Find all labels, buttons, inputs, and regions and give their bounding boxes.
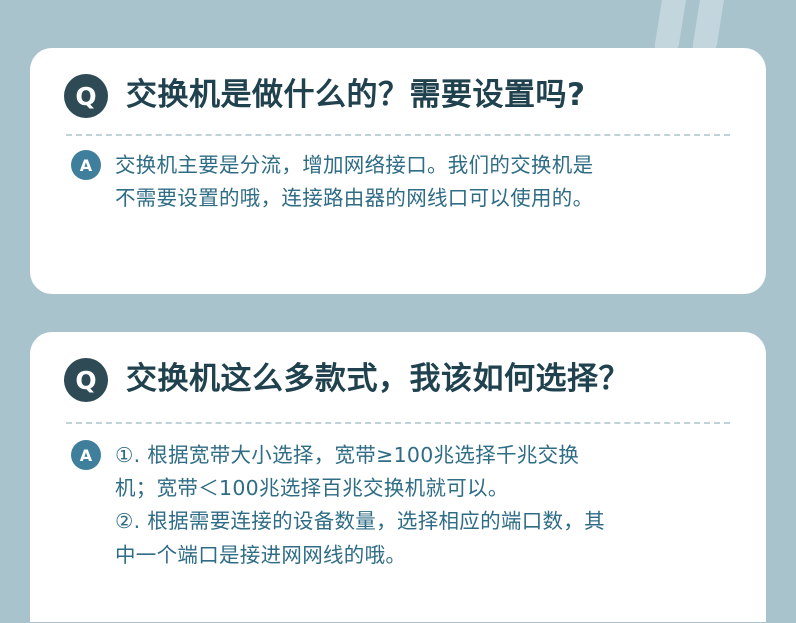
question-row-2: Q 交换机这么多款式，我该如何选择？ [64, 358, 732, 402]
question-row-1: Q 交换机是做什么的？需要设置吗? [64, 74, 732, 118]
answer-line: 中一个端口是接进网网线的哦。 [115, 539, 605, 572]
question-badge-1: Q [64, 74, 108, 118]
answer-line: 不需要设置的哦，连接路由器的网线口可以使用的。 [115, 182, 593, 215]
divider-1 [66, 134, 730, 136]
answer-line: 交换机主要是分流，增加网络接口。我们的交换机是 [115, 149, 593, 182]
answer-text-2: ①. 根据宽带大小选择，宽带≥100兆选择千兆交换 机；宽带＜100兆选择百兆交… [115, 439, 605, 572]
answer-line: 机；宽带＜100兆选择百兆交换机就可以。 [115, 472, 605, 505]
answer-badge-1: A [71, 150, 101, 180]
faq-card-2: Q 交换机这么多款式，我该如何选择？ A ①. 根据宽带大小选择，宽带≥100兆… [30, 332, 766, 622]
answer-line: ①. 根据宽带大小选择，宽带≥100兆选择千兆交换 [115, 439, 605, 472]
answer-row-2: A ①. 根据宽带大小选择，宽带≥100兆选择千兆交换 机；宽带＜100兆选择百… [64, 440, 732, 572]
question-text-1: 交换机是做什么的？需要设置吗? [126, 77, 585, 114]
question-text-2: 交换机这么多款式，我该如何选择？ [126, 361, 630, 398]
answer-text-1: 交换机主要是分流，增加网络接口。我们的交换机是 不需要设置的哦，连接路由器的网线… [115, 149, 593, 215]
faq-page: Q 交换机是做什么的？需要设置吗? A 交换机主要是分流，增加网络接口。我们的交… [0, 0, 796, 623]
divider-2 [66, 422, 730, 424]
answer-row-1: A 交换机主要是分流，增加网络接口。我们的交换机是 不需要设置的哦，连接路由器的… [64, 150, 732, 215]
answer-badge-2: A [71, 440, 101, 470]
faq-card-1: Q 交换机是做什么的？需要设置吗? A 交换机主要是分流，增加网络接口。我们的交… [30, 48, 766, 294]
answer-line: ②. 根据需要连接的设备数量，选择相应的端口数，其 [115, 505, 605, 538]
question-badge-2: Q [64, 358, 108, 402]
